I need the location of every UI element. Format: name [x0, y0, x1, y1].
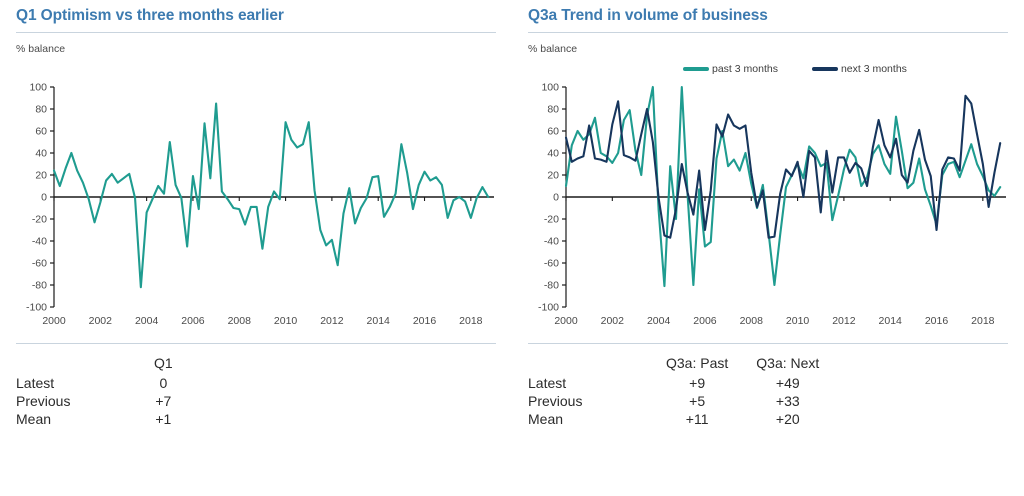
legend-swatch-icon: [683, 67, 709, 71]
legend-item: next 3 months: [812, 63, 907, 75]
y-tick-label: 20: [35, 170, 47, 182]
table-header-row: Q1: [16, 354, 187, 374]
x-tick-label: 2012: [320, 315, 344, 325]
y-tick-label: -80: [544, 280, 559, 292]
axis-unit-label: % balance: [16, 43, 496, 55]
y-tick-label: -60: [544, 258, 559, 270]
y-tick-label: 80: [547, 104, 559, 116]
series-line: [566, 87, 1000, 286]
table-row: Latest0: [16, 374, 187, 392]
table-row: Previous+5+33: [528, 392, 833, 410]
table-row: Mean+11+20: [528, 410, 833, 428]
legend-item: past 3 months: [683, 63, 778, 75]
y-tick-label: 60: [547, 126, 559, 138]
x-tick-label: 2004: [647, 315, 671, 325]
x-tick-label: 2016: [925, 315, 949, 325]
table-row: Latest+9+49: [528, 374, 833, 392]
legend-swatch-icon: [812, 67, 838, 71]
y-tick-label: 40: [547, 148, 559, 160]
table-header-row: Q3a: PastQ3a: Next: [528, 354, 833, 374]
table-cell-value: +20: [742, 410, 833, 428]
table-row-label: Mean: [528, 410, 652, 428]
x-tick-label: 2014: [879, 315, 903, 325]
table-column-header: Q3a: Past: [652, 354, 742, 374]
axis-unit-label: % balance: [528, 43, 1008, 55]
y-tick-label: 100: [541, 82, 559, 94]
chart-canvas-q1: 100806040200-20-40-60-80-100200020022004…: [16, 57, 496, 325]
table-cell-value: +7: [140, 392, 187, 410]
x-tick-label: 2000: [554, 315, 578, 325]
x-tick-label: 2018: [971, 315, 995, 325]
y-tick-label: 100: [29, 82, 47, 94]
y-tick-label: 40: [35, 148, 47, 160]
y-tick-label: -20: [544, 214, 559, 226]
x-tick-label: 2012: [832, 315, 856, 325]
table-column-header: Q3a: Next: [742, 354, 833, 374]
chart-q1-optimism: 100806040200-20-40-60-80-100200020022004…: [16, 57, 496, 327]
y-tick-label: -40: [544, 236, 559, 248]
title-divider: [16, 32, 496, 33]
table-corner-cell: [16, 354, 140, 374]
x-tick-label: 2002: [601, 315, 625, 325]
panel-q1-optimism: Q1 Optimism vs three months earlier % ba…: [0, 0, 512, 496]
title-divider: [528, 32, 1008, 33]
chart-canvas-q3a: 100806040200-20-40-60-80-100200020022004…: [528, 57, 1008, 325]
table-divider: [16, 343, 496, 344]
table-column-header: Q1: [140, 354, 187, 374]
x-tick-label: 2004: [135, 315, 159, 325]
y-tick-label: 0: [41, 192, 47, 204]
table-row-label: Previous: [16, 392, 140, 410]
table-row: Mean+1: [16, 410, 187, 428]
table-row: Previous+7: [16, 392, 187, 410]
y-tick-label: 80: [35, 104, 47, 116]
table-cell-value: +49: [742, 374, 833, 392]
table-row-label: Latest: [528, 374, 652, 392]
chart-q3a-trend: past 3 monthsnext 3 months 100806040200-…: [528, 57, 1008, 327]
legend-label: past 3 months: [712, 63, 778, 75]
y-tick-label: 0: [553, 192, 559, 204]
table-divider: [528, 343, 1008, 344]
page-title: Q1 Optimism vs three months earlier: [16, 0, 496, 25]
table-row-label: Mean: [16, 410, 140, 428]
table-cell-value: +33: [742, 392, 833, 410]
y-tick-label: -60: [32, 258, 47, 270]
table-cell-value: +1: [140, 410, 187, 428]
x-tick-label: 2010: [786, 315, 810, 325]
x-tick-label: 2006: [693, 315, 717, 325]
page-title: Q3a Trend in volume of business: [528, 0, 1008, 25]
x-tick-label: 2000: [42, 315, 66, 325]
panel-q3a-trend: Q3a Trend in volume of business % balanc…: [512, 0, 1024, 496]
x-tick-label: 2006: [181, 315, 205, 325]
table-cell-value: +11: [652, 410, 742, 428]
x-tick-label: 2010: [274, 315, 298, 325]
table-row-label: Latest: [16, 374, 140, 392]
series-line: [54, 104, 488, 288]
table-cell-value: 0: [140, 374, 187, 392]
y-tick-label: -80: [32, 280, 47, 292]
table-row-label: Previous: [528, 392, 652, 410]
x-tick-label: 2016: [413, 315, 437, 325]
table-corner-cell: [528, 354, 652, 374]
table-cell-value: +5: [652, 392, 742, 410]
y-tick-label: 60: [35, 126, 47, 138]
x-tick-label: 2008: [740, 315, 764, 325]
y-tick-label: -20: [32, 214, 47, 226]
y-tick-label: -100: [538, 302, 559, 314]
x-tick-label: 2014: [367, 315, 391, 325]
x-tick-label: 2018: [459, 315, 483, 325]
legend-label: next 3 months: [841, 63, 907, 75]
y-tick-label: -100: [26, 302, 47, 314]
chart-legend: past 3 monthsnext 3 months: [683, 63, 907, 75]
x-tick-label: 2008: [228, 315, 252, 325]
report-page: Q1 Optimism vs three months earlier % ba…: [0, 0, 1024, 496]
x-tick-label: 2002: [89, 315, 113, 325]
stats-table-q1: Q1Latest0Previous+7Mean+1: [16, 354, 187, 428]
y-tick-label: 20: [547, 170, 559, 182]
stats-table-q3a: Q3a: PastQ3a: NextLatest+9+49Previous+5+…: [528, 354, 833, 428]
y-tick-label: -40: [32, 236, 47, 248]
table-cell-value: +9: [652, 374, 742, 392]
